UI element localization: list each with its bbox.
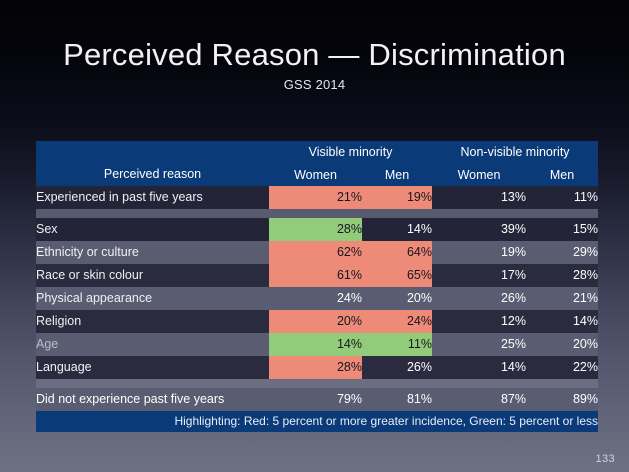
cell-visible-men: 81% — [362, 388, 432, 411]
column-header-nonvisible-women: Women — [432, 163, 526, 186]
cell-nonvisible-women: 19% — [432, 241, 526, 264]
column-header-visible-women: Women — [269, 163, 362, 186]
group-header-visible-minority: Visible minority — [269, 141, 432, 163]
cell-nonvisible-women: 17% — [432, 264, 526, 287]
cell-visible-men: 11% — [362, 333, 432, 356]
highlight-legend-note: Highlighting: Red: 5 percent or more gre… — [36, 411, 598, 432]
cell-nonvisible-men: 11% — [526, 186, 598, 209]
cell-visible-men: 20% — [362, 287, 432, 310]
cell-visible-women: 28% — [269, 356, 362, 379]
cell-nonvisible-men: 89% — [526, 388, 598, 411]
cell-nonvisible-men: 22% — [526, 356, 598, 379]
row-label: Age — [36, 333, 269, 356]
table-spacer-row — [36, 379, 598, 388]
cell-visible-men: 14% — [362, 218, 432, 241]
row-label: Language — [36, 356, 269, 379]
cell-nonvisible-women: 25% — [432, 333, 526, 356]
table-row-did-not-experience: Did not experience past five years 79% 8… — [36, 388, 598, 411]
page-title: Perceived Reason — Discrimination — [0, 38, 629, 71]
cell-nonvisible-women: 39% — [432, 218, 526, 241]
cell-visible-men: 26% — [362, 356, 432, 379]
cell-visible-women: 24% — [269, 287, 362, 310]
column-header-visible-men: Men — [362, 163, 432, 186]
cell-visible-women: 21% — [269, 186, 362, 209]
cell-visible-women: 14% — [269, 333, 362, 356]
table-row: Sex 28% 14% 39% 15% — [36, 218, 598, 241]
table-row: Religion 20% 24% 12% 14% — [36, 310, 598, 333]
cell-nonvisible-men: 20% — [526, 333, 598, 356]
table-row: Language 28% 26% 14% 22% — [36, 356, 598, 379]
cell-nonvisible-men: 15% — [526, 218, 598, 241]
row-label: Did not experience past five years — [36, 388, 269, 411]
cell-nonvisible-men: 28% — [526, 264, 598, 287]
cell-visible-men: 65% — [362, 264, 432, 287]
page-number: 133 — [595, 453, 615, 465]
row-label: Sex — [36, 218, 269, 241]
row-label: Physical appearance — [36, 287, 269, 310]
title-block: Perceived Reason — Discrimination GSS 20… — [0, 38, 629, 92]
cell-nonvisible-women: 13% — [432, 186, 526, 209]
cell-visible-women: 61% — [269, 264, 362, 287]
cell-visible-women: 28% — [269, 218, 362, 241]
table-note-row: Highlighting: Red: 5 percent or more gre… — [36, 411, 598, 432]
table-column-header-row: Perceived reason Women Men Women Men — [36, 163, 598, 186]
row-label: Experienced in past five years — [36, 186, 269, 209]
cell-nonvisible-men: 29% — [526, 241, 598, 264]
cell-visible-women: 79% — [269, 388, 362, 411]
cell-nonvisible-women: 14% — [432, 356, 526, 379]
table-row: Race or skin colour 61% 65% 17% 28% — [36, 264, 598, 287]
group-header-non-visible-minority: Non-visible minority — [432, 141, 598, 163]
cell-visible-men: 24% — [362, 310, 432, 333]
cell-visible-women: 62% — [269, 241, 362, 264]
spacer-cell — [36, 209, 598, 218]
spacer-cell — [36, 379, 598, 388]
row-label: Race or skin colour — [36, 264, 269, 287]
slide-canvas: Perceived Reason — Discrimination GSS 20… — [0, 0, 629, 472]
cell-nonvisible-men: 21% — [526, 287, 598, 310]
column-header-reason: Perceived reason — [36, 163, 269, 186]
table-row: Age 14% 11% 25% 20% — [36, 333, 598, 356]
page-subtitle: GSS 2014 — [0, 77, 629, 92]
cell-nonvisible-women: 12% — [432, 310, 526, 333]
table-row-experienced: Experienced in past five years 21% 19% 1… — [36, 186, 598, 209]
cell-visible-men: 64% — [362, 241, 432, 264]
table-spacer-row — [36, 209, 598, 218]
table-row: Physical appearance 24% 20% 26% 21% — [36, 287, 598, 310]
cell-nonvisible-women: 87% — [432, 388, 526, 411]
table-group-header-row: Visible minority Non-visible minority — [36, 141, 598, 163]
row-label: Ethnicity or culture — [36, 241, 269, 264]
cell-visible-men: 19% — [362, 186, 432, 209]
table-row: Ethnicity or culture 62% 64% 19% 29% — [36, 241, 598, 264]
perceived-reason-table: Visible minority Non-visible minority Pe… — [36, 141, 598, 432]
group-header-blank — [36, 141, 269, 163]
cell-visible-women: 20% — [269, 310, 362, 333]
cell-nonvisible-women: 26% — [432, 287, 526, 310]
column-header-nonvisible-men: Men — [526, 163, 598, 186]
row-label: Religion — [36, 310, 269, 333]
cell-nonvisible-men: 14% — [526, 310, 598, 333]
